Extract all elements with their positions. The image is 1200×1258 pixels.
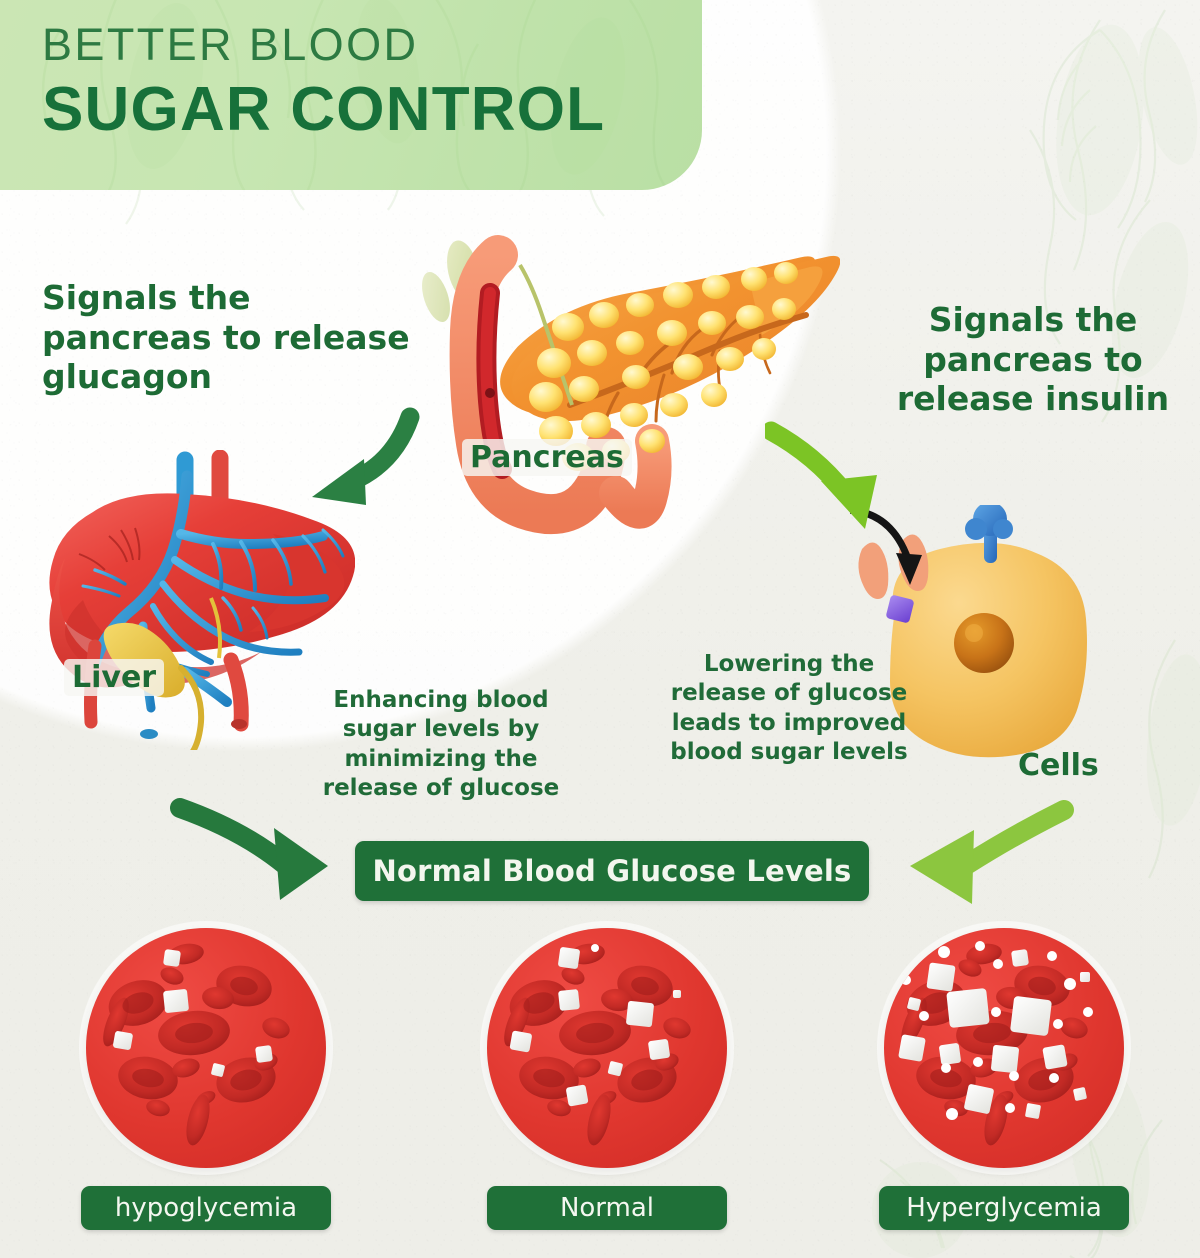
blood-state-card-hyperglycemia: Hyperglycemia (874, 928, 1134, 1230)
arrow-cells-to-banner-icon (888, 790, 1078, 905)
liver-label: Liver (64, 659, 164, 696)
blood-sample-disk (487, 928, 727, 1168)
blood-state-label: Hyperglycemia (879, 1186, 1129, 1230)
normal-glucose-banner-label: Normal Blood Glucose Levels (373, 854, 852, 888)
infographic-canvas: BETTER BLOOD SUGAR CONTROL (0, 0, 1200, 1258)
arrow-liver-to-banner-icon (168, 790, 358, 905)
page-title-line2: SUGAR CONTROL (42, 77, 605, 142)
arrow-pancreas-to-cells-icon (765, 415, 930, 540)
pancreas-label: Pancreas (462, 439, 632, 476)
blood-cells-graphic (487, 928, 727, 1168)
blood-state-card-normal: Normal (477, 928, 737, 1230)
glucose-dot-icon (591, 944, 599, 952)
blood-state-label: hypoglycemia (81, 1186, 331, 1230)
page-title-line1: BETTER BLOOD (42, 22, 605, 67)
blood-sample-disk (86, 928, 326, 1168)
blood-state-card-hypoglycemia: hypoglycemia (76, 928, 336, 1230)
left-flow-text: Signals the pancreas to release glucagon (42, 278, 422, 397)
cells-label: Cells (1010, 747, 1107, 784)
right-flow-text: Signals the pancreas to release insulin (888, 300, 1178, 419)
normal-glucose-banner: Normal Blood Glucose Levels (355, 841, 869, 901)
header-title-group: BETTER BLOOD SUGAR CONTROL (42, 22, 605, 142)
left-sub-text: Enhancing blood sugar levels by minimizi… (296, 686, 586, 804)
blood-cells-graphic (884, 928, 1124, 1168)
header-banner: BETTER BLOOD SUGAR CONTROL (0, 0, 702, 190)
blood-cells-graphic (86, 928, 326, 1168)
blood-state-label: Normal (487, 1186, 727, 1230)
arrow-pancreas-to-liver-icon (280, 405, 420, 520)
blood-sample-disk (884, 928, 1124, 1168)
right-sub-text: Lowering the release of glucose leads to… (664, 650, 914, 768)
